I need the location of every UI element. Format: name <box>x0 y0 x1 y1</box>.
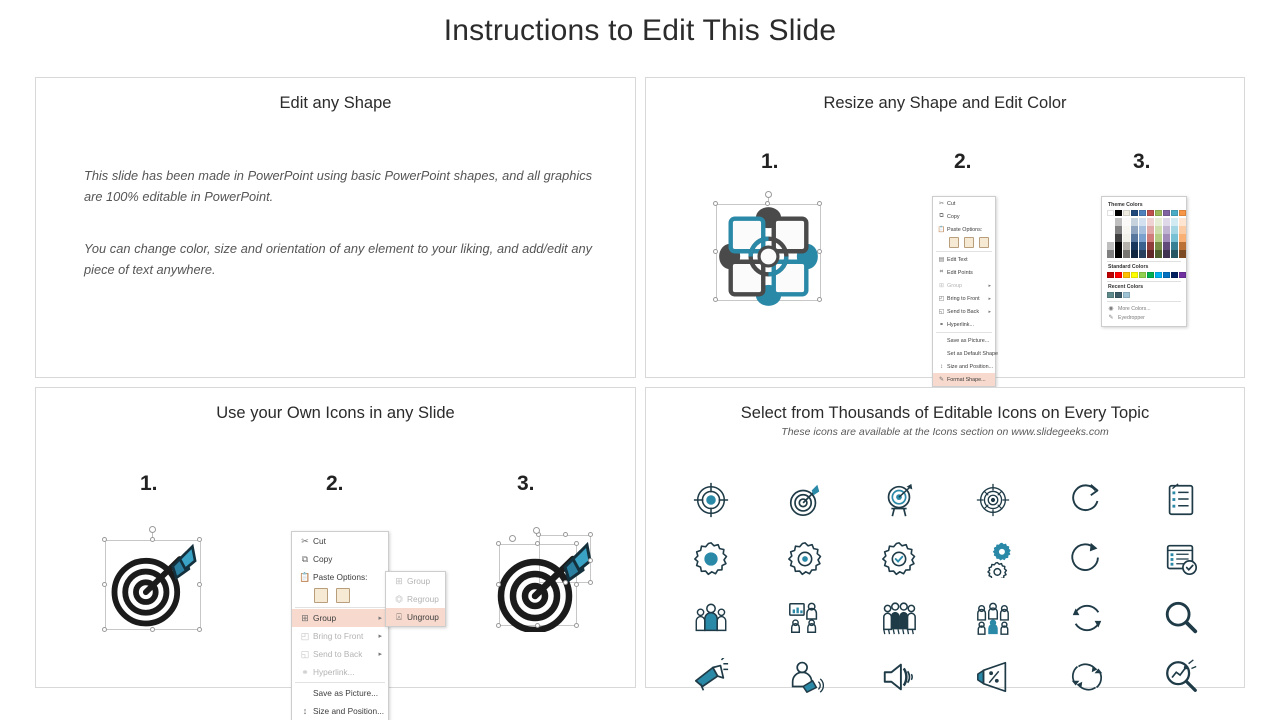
recent-color-swatch[interactable] <box>1123 292 1130 298</box>
icon-cell[interactable] <box>1040 588 1134 647</box>
gear-filled-icon <box>692 540 730 578</box>
presentation-team-icon <box>786 599 824 637</box>
copy-icon: ⧉ <box>936 213 947 220</box>
handle[interactable] <box>574 541 579 546</box>
ctx-item-cut[interactable]: ✂ Cut <box>292 532 388 550</box>
send-to-back-icon: ◱ <box>297 649 313 660</box>
theme-tint-swatch[interactable] <box>1147 226 1154 234</box>
ctx-item-format-shape[interactable]: ✎ Format Shape... <box>933 373 995 386</box>
paste-keep-formatting-icon[interactable] <box>314 588 328 603</box>
theme-tint-swatch[interactable] <box>1147 250 1154 258</box>
handle[interactable] <box>574 582 579 587</box>
panel-icons-title: Use your Own Icons in any Slide <box>36 404 635 423</box>
scope-target-icon <box>974 481 1012 519</box>
circular-arrow-icon <box>1068 540 1106 578</box>
icon-cell[interactable] <box>758 529 852 588</box>
standard-color-swatch[interactable] <box>1179 272 1186 278</box>
handle[interactable] <box>535 623 540 628</box>
standard-color-swatch[interactable] <box>1163 272 1170 278</box>
handle[interactable] <box>588 532 593 537</box>
ctx-label: Regroup <box>407 594 439 604</box>
submenu-item-ungroup[interactable]: ⍓ Ungroup <box>386 608 445 626</box>
theme-color-swatch[interactable] <box>1163 210 1170 216</box>
bring-to-front-icon: ◰ <box>936 295 947 302</box>
double-gear-icon <box>974 540 1012 578</box>
checklist-document-icon <box>1162 481 1200 519</box>
theme-tint-swatch[interactable] <box>1147 218 1154 226</box>
icons-step-1-number: 1. <box>140 472 158 496</box>
theme-tint-swatch[interactable] <box>1123 218 1130 226</box>
standard-colors-grid[interactable] <box>1107 272 1181 278</box>
theme-tint-column[interactable] <box>1139 218 1146 258</box>
theme-tint-swatch[interactable] <box>1155 218 1162 226</box>
picker-divider <box>1107 261 1181 262</box>
icon-cell[interactable] <box>664 470 758 529</box>
link-icon: ⚭ <box>936 321 947 328</box>
ctx-item-bring-to-front[interactable]: ◰ Bring to Front ▸ <box>933 292 995 305</box>
copy-icon: ⧉ <box>297 554 313 565</box>
regroup-icon: ⏣ <box>391 594 407 605</box>
theme-tint-swatch[interactable] <box>1179 242 1186 250</box>
menu-divider <box>936 332 992 333</box>
icon-cell[interactable] <box>852 647 946 706</box>
standard-color-swatch[interactable] <box>1147 272 1154 278</box>
theme-tint-column[interactable] <box>1171 218 1178 258</box>
picker-divider <box>1107 281 1181 282</box>
theme-tint-swatch[interactable] <box>1115 234 1122 242</box>
icon-cell[interactable] <box>946 647 1040 706</box>
handle[interactable] <box>496 582 501 587</box>
theme-tint-swatch[interactable] <box>1115 250 1122 258</box>
target-stand-icon <box>880 481 918 519</box>
ctx-label: Ungroup <box>407 612 439 622</box>
icon-cell[interactable] <box>852 529 946 588</box>
icon-cell[interactable] <box>1040 470 1134 529</box>
panel-library-title: Select from Thousands of Editable Icons … <box>646 404 1244 423</box>
palette-icon: ◉ <box>1107 305 1115 312</box>
ctx-label: Format Shape... <box>947 377 991 383</box>
team-meeting-icon <box>974 599 1012 637</box>
theme-tint-swatch[interactable] <box>1179 226 1186 234</box>
picker-divider <box>1107 301 1181 302</box>
theme-tint-column[interactable] <box>1155 218 1162 258</box>
theme-tint-swatch[interactable] <box>1123 234 1130 242</box>
ctx-label: Bring to Front <box>313 631 374 641</box>
handle[interactable] <box>563 580 568 585</box>
theme-color-swatch[interactable] <box>1123 210 1130 216</box>
rotate-handle[interactable] <box>765 191 772 198</box>
icon-cell[interactable] <box>852 470 946 529</box>
group-icon: ⊞ <box>936 282 947 289</box>
resize-step-3-number: 3. <box>1133 150 1151 174</box>
menu-divider <box>295 607 385 608</box>
icon-cell[interactable] <box>946 470 1040 529</box>
theme-tint-swatch[interactable] <box>1115 242 1122 250</box>
color-picker-panel[interactable]: Theme Colors Standard Colors Recent Colo… <box>1101 196 1187 327</box>
ctx-item-paste-options[interactable]: 📋 Paste Options: <box>933 223 995 236</box>
icon-cell[interactable] <box>1134 647 1228 706</box>
group-submenu[interactable]: ⊞ Group ⏣ Regroup ⍓ Ungroup <box>385 571 446 627</box>
ctx-item-size-and-position[interactable]: ↕ Size and Position... <box>292 702 388 720</box>
panel-icon-library: Select from Thousands of Editable Icons … <box>645 387 1245 688</box>
ctx-label: Hyperlink... <box>313 667 382 677</box>
ctx-label: Group <box>947 283 985 289</box>
slide-canvas: Instructions to Edit This Slide Edit any… <box>0 0 1280 720</box>
standard-color-swatch[interactable] <box>1123 272 1130 278</box>
paste-option-buttons[interactable] <box>292 586 388 606</box>
ctx-label: Cut <box>947 201 991 207</box>
rotate-handle[interactable] <box>509 535 516 542</box>
theme-tint-column[interactable] <box>1107 218 1114 258</box>
ctx-label: Paste Options: <box>947 227 991 233</box>
standard-color-swatch[interactable] <box>1171 272 1178 278</box>
theme-tint-column[interactable] <box>1147 218 1154 258</box>
standard-color-swatch[interactable] <box>1131 272 1138 278</box>
theme-tint-swatch[interactable] <box>1163 250 1170 258</box>
eyedropper-label: Eyedropper <box>1118 315 1145 321</box>
panel-library-subtitle: These icons are available at the Icons s… <box>646 426 1244 438</box>
ctx-label: Set as Default Shape <box>947 351 998 357</box>
panel-edit-any-shape: Edit any Shape This slide has been made … <box>35 77 636 378</box>
theme-tint-swatch[interactable] <box>1139 218 1146 226</box>
theme-color-swatch[interactable] <box>1155 210 1162 216</box>
handle[interactable] <box>588 580 593 585</box>
paste-merge-icon[interactable] <box>979 237 989 248</box>
theme-tint-swatch[interactable] <box>1107 242 1114 250</box>
icon-cell[interactable] <box>1040 529 1134 588</box>
icon-cell[interactable] <box>664 647 758 706</box>
ctx-label: Hyperlink... <box>947 322 991 328</box>
theme-tint-swatch[interactable] <box>1155 250 1162 258</box>
theme-tint-swatch[interactable] <box>1155 242 1162 250</box>
panel-edit-paragraph-2: You can change color, size and orientati… <box>84 239 592 280</box>
theme-tint-swatch[interactable] <box>1171 250 1178 258</box>
handle[interactable] <box>588 558 593 563</box>
ctx-label: Paste Options: <box>313 572 382 582</box>
scissors-icon: ✂ <box>936 200 947 207</box>
edit-text-icon: ▤ <box>936 256 947 263</box>
ctx-label: Save as Picture... <box>947 338 991 344</box>
theme-colors-label: Theme Colors <box>1108 202 1181 208</box>
ctx-label: Save as Picture... <box>313 688 382 698</box>
rotate-arrows-icon <box>1068 658 1106 696</box>
theme-color-swatch[interactable] <box>1131 210 1138 216</box>
target-dart-icon <box>491 540 601 632</box>
format-shape-icon: ✎ <box>936 376 947 383</box>
theme-tint-column[interactable] <box>1131 218 1138 258</box>
send-to-back-icon: ◱ <box>936 308 947 315</box>
ctx-label: Group <box>313 613 374 623</box>
ctx-label: Copy <box>947 214 991 220</box>
ctx-item-paste-options[interactable]: 📋 Paste Options: <box>292 568 388 586</box>
rotate-handle[interactable] <box>149 526 156 533</box>
theme-tint-swatch[interactable] <box>1139 250 1146 258</box>
handle[interactable] <box>496 541 501 546</box>
theme-tint-column[interactable] <box>1123 218 1130 258</box>
icon-cell[interactable] <box>1134 588 1228 647</box>
theme-tint-swatch[interactable] <box>1179 218 1186 226</box>
theme-tint-swatch[interactable] <box>1123 226 1130 234</box>
icon-context-menu[interactable]: ✂ Cut ⧉ Copy 📋 Paste Options: ⊞ Group ▸ <box>291 531 389 720</box>
theme-tint-swatch[interactable] <box>1147 234 1154 242</box>
page-title: Instructions to Edit This Slide <box>0 14 1280 48</box>
standard-color-swatch[interactable] <box>1107 272 1114 278</box>
ctx-item-send-to-back[interactable]: ◱ Send to Back ▸ <box>292 645 388 663</box>
gear-check-icon <box>880 540 918 578</box>
ctx-item-bring-to-front[interactable]: ◰ Bring to Front ▸ <box>292 627 388 645</box>
magnifier-chart-icon <box>1162 658 1200 696</box>
megaphone-icon <box>692 658 730 696</box>
icon-cell[interactable] <box>1040 647 1134 706</box>
icon-cell[interactable] <box>1134 470 1228 529</box>
bring-to-front-icon: ◰ <box>297 631 313 642</box>
theme-color-swatch[interactable] <box>1107 210 1114 216</box>
standard-color-swatch[interactable] <box>1115 272 1122 278</box>
theme-tint-swatch[interactable] <box>1179 234 1186 242</box>
sync-arrows-icon <box>1068 599 1106 637</box>
theme-color-tints-grid[interactable] <box>1107 218 1181 258</box>
group-icon: ⊞ <box>391 576 407 587</box>
megaphone-percent-icon <box>974 658 1012 696</box>
submenu-item-regroup[interactable]: ⏣ Regroup <box>386 590 445 608</box>
theme-tint-swatch[interactable] <box>1107 218 1114 226</box>
icon-cell[interactable] <box>758 647 852 706</box>
link-icon: ⚭ <box>297 667 313 678</box>
ctx-item-cut[interactable]: ✂ Cut <box>933 197 995 210</box>
theme-tint-swatch[interactable] <box>1139 226 1146 234</box>
submenu-item-group[interactable]: ⊞ Group <box>386 572 445 590</box>
theme-tint-swatch[interactable] <box>1155 226 1162 234</box>
more-colors-button[interactable]: ◉ More Colors... <box>1107 304 1181 313</box>
icon-cell[interactable] <box>758 588 852 647</box>
paste-picture-icon[interactable] <box>964 237 974 248</box>
target-dart-grouped-figure[interactable] <box>105 530 201 630</box>
panel-use-own-icons: Use your Own Icons in any Slide 1. 2. 3. <box>35 387 636 688</box>
theme-tint-swatch[interactable] <box>1131 226 1138 234</box>
ctx-label: Send to Back <box>947 309 985 315</box>
theme-tint-swatch[interactable] <box>1115 218 1122 226</box>
theme-tint-column[interactable] <box>1115 218 1122 258</box>
theme-color-swatch[interactable] <box>1139 210 1146 216</box>
magnifier-icon <box>1162 599 1200 637</box>
shape-context-menu[interactable]: ✂ Cut ⧉ Copy 📋 Paste Options: ▤ Edit Tex… <box>932 196 996 387</box>
theme-tint-swatch[interactable] <box>1139 242 1146 250</box>
ctx-label: Bring to Front <box>947 296 985 302</box>
theme-tint-swatch[interactable] <box>1115 226 1122 234</box>
chevron-right-icon: ▸ <box>985 296 991 302</box>
theme-colors-grid[interactable] <box>1107 210 1181 216</box>
gear-outline-icon <box>786 540 824 578</box>
ctx-label: Send to Back <box>313 649 374 659</box>
theme-tint-swatch[interactable] <box>1123 242 1130 250</box>
theme-tint-swatch[interactable] <box>1163 242 1170 250</box>
menu-divider <box>295 682 385 683</box>
group-icon: ⊞ <box>297 613 313 624</box>
panel-edit-title: Edit any Shape <box>36 94 635 113</box>
theme-tint-swatch[interactable] <box>1147 242 1154 250</box>
ctx-item-save-as-picture[interactable]: Save as Picture... <box>933 334 995 347</box>
ctx-item-edit-text[interactable]: ▤ Edit Text <box>933 253 995 266</box>
ctx-item-copy[interactable]: ⧉ Copy <box>933 210 995 223</box>
ungroup-icon: ⍓ <box>391 612 407 623</box>
panel-resize-edit-color: Resize any Shape and Edit Color 1. 2. 3. <box>645 77 1245 378</box>
icon-cell[interactable] <box>1134 529 1228 588</box>
rotate-handle[interactable] <box>533 527 540 534</box>
ctx-item-edit-points[interactable]: ⌗ Edit Points <box>933 266 995 279</box>
icon-cell[interactable] <box>758 470 852 529</box>
chevron-right-icon: ▸ <box>374 614 382 622</box>
theme-color-swatch[interactable] <box>1171 210 1178 216</box>
ctx-label: Group <box>407 576 439 586</box>
ctx-label: Size and Position... <box>313 706 384 716</box>
chevron-right-icon: ▸ <box>374 632 382 640</box>
team-group-icon <box>880 599 918 637</box>
theme-tint-swatch[interactable] <box>1171 226 1178 234</box>
icon-cell[interactable] <box>664 588 758 647</box>
ctx-item-set-default-shape[interactable]: Set as Default Shape <box>933 347 995 360</box>
menu-divider <box>936 251 992 252</box>
ctx-item-hyperlink[interactable]: ⚭ Hyperlink... <box>292 663 388 681</box>
theme-tint-swatch[interactable] <box>1131 234 1138 242</box>
theme-color-swatch[interactable] <box>1179 210 1186 216</box>
size-position-icon: ↕ <box>297 706 313 716</box>
chevron-right-icon: ▸ <box>374 650 382 658</box>
clipboard-icon: 📋 <box>936 226 947 233</box>
chevron-right-icon: ▸ <box>985 283 991 289</box>
document-approved-icon <box>1162 540 1200 578</box>
theme-tint-swatch[interactable] <box>1179 250 1186 258</box>
ctx-item-size-and-position[interactable]: ↕ Size and Position... <box>933 360 995 373</box>
icons-step-2-number: 2. <box>326 472 344 496</box>
panel-edit-paragraph-1: This slide has been made in PowerPoint u… <box>84 166 592 207</box>
ctx-item-copy[interactable]: ⧉ Copy <box>292 550 388 568</box>
handle[interactable] <box>574 623 579 628</box>
shape-selection-figure[interactable] <box>716 196 821 301</box>
ctx-label: Size and Position... <box>947 364 993 370</box>
theme-tint-swatch[interactable] <box>1107 226 1114 234</box>
ctx-label: Copy <box>313 554 382 564</box>
icon-cell[interactable] <box>946 588 1040 647</box>
resize-step-2-number: 2. <box>954 150 972 174</box>
chevron-right-icon: ▸ <box>985 309 991 315</box>
theme-tint-swatch[interactable] <box>1123 250 1130 258</box>
handle[interactable] <box>496 623 501 628</box>
recent-colors-grid[interactable] <box>1107 292 1181 298</box>
theme-tint-swatch[interactable] <box>1171 234 1178 242</box>
handle[interactable] <box>563 532 568 537</box>
ctx-label: Edit Points <box>947 270 991 276</box>
clipboard-icon: 📋 <box>297 572 313 583</box>
eyedropper-icon: ✎ <box>1107 314 1115 321</box>
theme-tint-column[interactable] <box>1179 218 1186 258</box>
theme-tint-swatch[interactable] <box>1171 218 1178 226</box>
icon-cell[interactable] <box>852 588 946 647</box>
ctx-item-group[interactable]: ⊞ Group ▸ <box>292 609 388 627</box>
standard-color-swatch[interactable] <box>1139 272 1146 278</box>
crosshair-target-icon <box>692 481 730 519</box>
target-dart-ungrouped-figure[interactable] <box>477 530 597 630</box>
handle[interactable] <box>535 541 540 546</box>
people-group-icon <box>692 599 730 637</box>
recent-color-swatch[interactable] <box>1115 292 1122 298</box>
theme-tint-swatch[interactable] <box>1131 250 1138 258</box>
edit-points-icon: ⌗ <box>936 269 947 276</box>
theme-tint-swatch[interactable] <box>1171 242 1178 250</box>
resize-step-1-number: 1. <box>761 150 779 174</box>
ctx-item-save-as-picture[interactable]: Save as Picture... <box>292 684 388 702</box>
person-announce-icon <box>786 658 824 696</box>
icon-cell[interactable] <box>664 529 758 588</box>
ctx-label: Cut <box>313 536 382 546</box>
standard-colors-label: Standard Colors <box>1108 264 1181 270</box>
scissors-icon: ✂ <box>297 536 313 547</box>
theme-tint-swatch[interactable] <box>1131 242 1138 250</box>
ctx-label: Edit Text <box>947 257 991 263</box>
icon-library-grid <box>664 470 1228 706</box>
icon-cell[interactable] <box>946 529 1040 588</box>
ctx-item-hyperlink[interactable]: ⚭ Hyperlink... <box>933 318 995 331</box>
theme-tint-swatch[interactable] <box>1107 234 1114 242</box>
refresh-arrow-icon <box>1068 481 1106 519</box>
target-dart-icon <box>107 542 199 628</box>
theme-tint-swatch[interactable] <box>1163 218 1170 226</box>
theme-tint-column[interactable] <box>1163 218 1170 258</box>
theme-tint-swatch[interactable] <box>1155 234 1162 242</box>
theme-tint-swatch[interactable] <box>1139 234 1146 242</box>
theme-color-swatch[interactable] <box>1115 210 1122 216</box>
theme-tint-swatch[interactable] <box>1107 250 1114 258</box>
ctx-item-group[interactable]: ⊞ Group ▸ <box>933 279 995 292</box>
four-squares-target-shape <box>716 204 821 309</box>
theme-tint-swatch[interactable] <box>1163 234 1170 242</box>
speaker-sound-icon <box>880 658 918 696</box>
theme-color-swatch[interactable] <box>1147 210 1154 216</box>
recent-colors-label: Recent Colors <box>1108 284 1181 290</box>
paste-option-buttons[interactable] <box>933 236 995 250</box>
ctx-item-send-to-back[interactable]: ◱ Send to Back ▸ <box>933 305 995 318</box>
size-position-icon: ↕ <box>936 364 947 370</box>
standard-color-swatch[interactable] <box>1155 272 1162 278</box>
eyedropper-button[interactable]: ✎ Eyedropper <box>1107 313 1181 322</box>
paste-picture-icon[interactable] <box>336 588 350 603</box>
paste-keep-formatting-icon[interactable] <box>949 237 959 248</box>
target-dart-icon <box>786 481 824 519</box>
icons-step-3-number: 3. <box>517 472 535 496</box>
theme-tint-swatch[interactable] <box>1163 226 1170 234</box>
theme-tint-swatch[interactable] <box>1131 218 1138 226</box>
recent-color-swatch[interactable] <box>1107 292 1114 298</box>
more-colors-label: More Colors... <box>1118 306 1151 312</box>
panel-resize-title: Resize any Shape and Edit Color <box>646 94 1244 113</box>
